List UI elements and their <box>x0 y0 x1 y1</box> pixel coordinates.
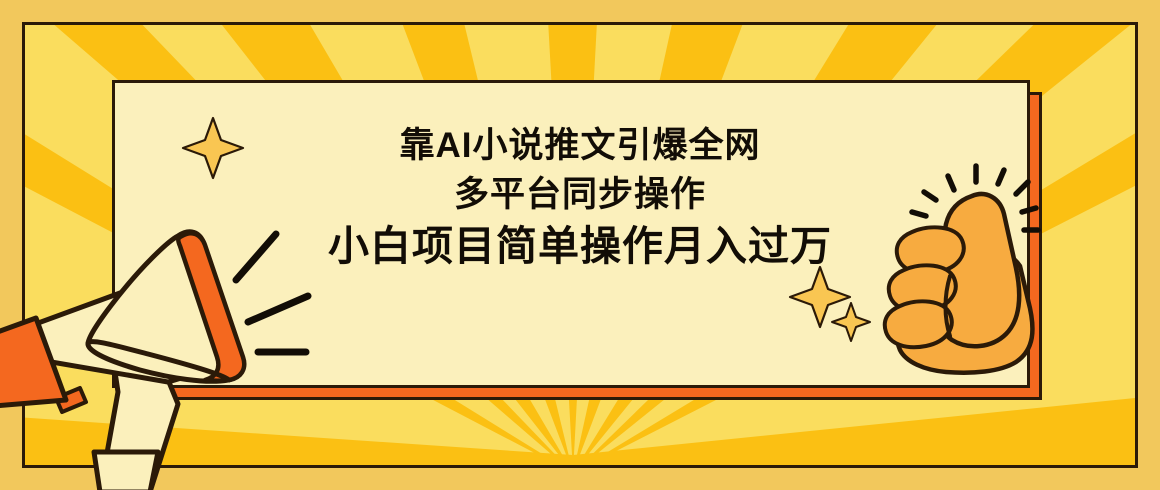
promotional-poster: 靠AI小说推文引爆全网 多平台同步操作 小白项目简单操作月入过万 <box>0 0 1160 490</box>
content-card <box>112 80 1030 388</box>
